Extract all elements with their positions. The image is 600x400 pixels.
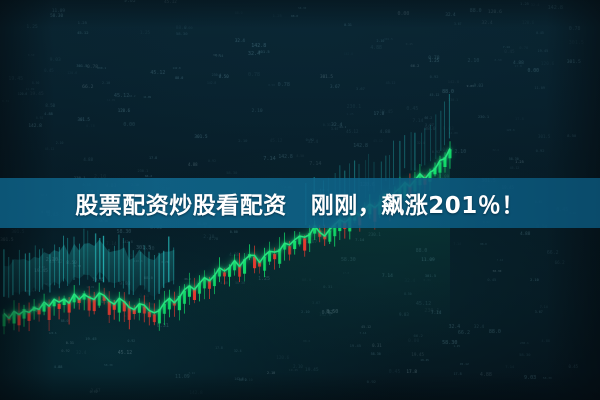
headline-part-1: 股票配资炒股看配资 — [75, 193, 287, 219]
headline-banner: 股票配资炒股看配资 刚刚，飙涨201％！ — [0, 178, 600, 228]
headline-part-2: 刚刚，飙涨201％！ — [311, 193, 525, 219]
stock-chart-banner-image: 2.109.032.107.144.8845.1217.82.1066.22.1… — [0, 0, 600, 400]
headline-text: 股票配资炒股看配资 刚刚，飙涨201％！ — [75, 186, 525, 220]
